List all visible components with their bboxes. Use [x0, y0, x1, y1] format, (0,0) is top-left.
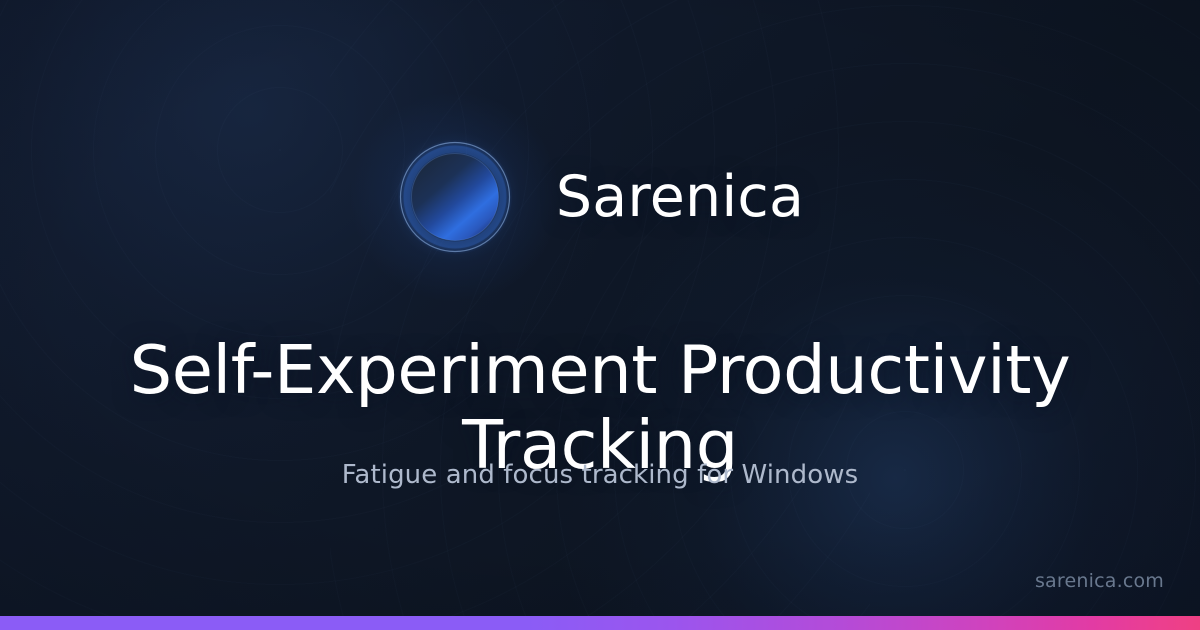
- social-card: Sarenica Self-Experiment Productivity Tr…: [0, 0, 1200, 630]
- logo-orb-svg: [396, 138, 514, 256]
- brand-wordmark: Sarenica: [556, 169, 804, 226]
- site-url-label: sarenica.com: [1035, 570, 1164, 592]
- page-title-line-1: Self-Experiment Productivity: [130, 331, 1071, 409]
- sarenica-orb-logo-icon: [396, 138, 514, 256]
- page-subtitle: Fatigue and focus tracking for Windows: [90, 458, 1110, 493]
- card-content: Sarenica Self-Experiment Productivity Tr…: [0, 0, 1200, 630]
- accent-bar: [0, 616, 1200, 630]
- brand-lockup: Sarenica: [0, 138, 1200, 256]
